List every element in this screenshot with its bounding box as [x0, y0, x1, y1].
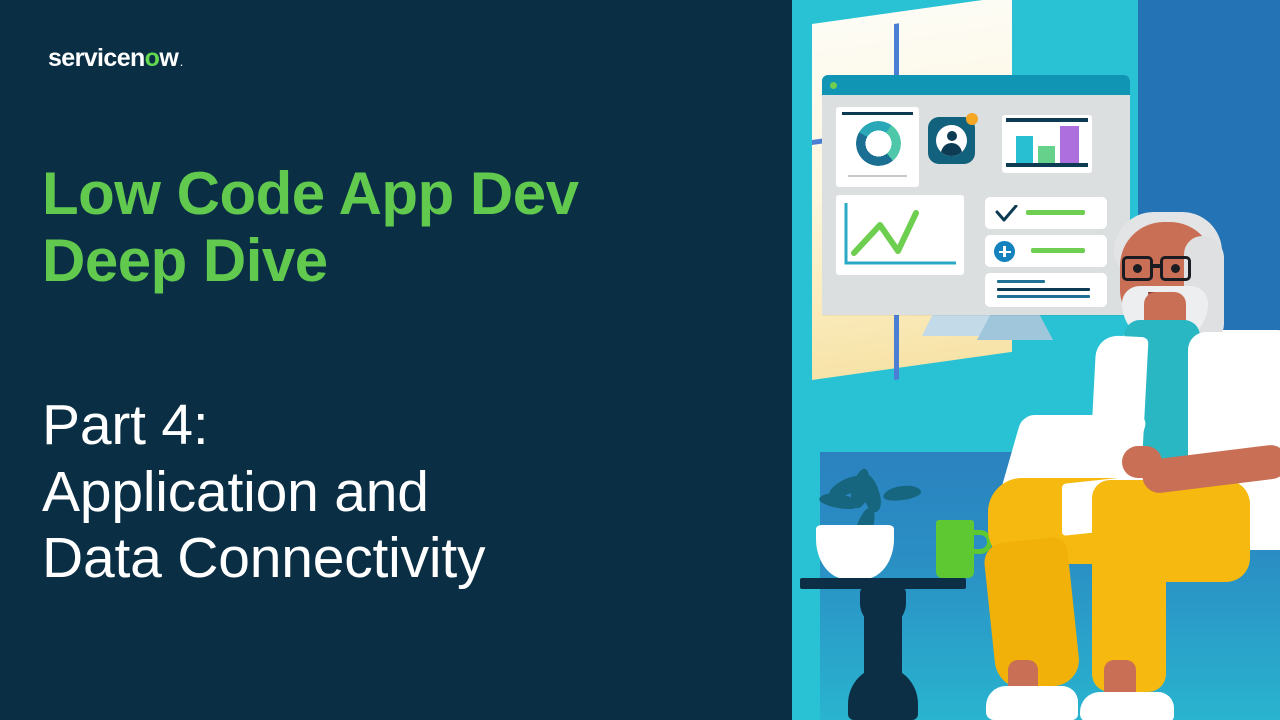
person-shoe-right: [1080, 692, 1174, 720]
placeholder-text-bar: [1031, 248, 1085, 253]
title-panel: servicenow. Low Code App Dev Deep Dive P…: [0, 0, 792, 720]
logo-text-part-a: servicen: [48, 46, 145, 71]
person-shoe-left: [986, 686, 1078, 720]
page-subtitle: Part 4: Application and Data Connectivit…: [42, 392, 772, 592]
coffee-mug: [936, 520, 974, 578]
illustration-panel: [792, 0, 1280, 720]
donut-chart-icon: [856, 121, 901, 166]
page-title: Low Code App Dev Deep Dive: [42, 160, 762, 294]
bar-chart-rule-bottom: [1006, 163, 1088, 167]
card-rule-bottom: [848, 175, 907, 177]
logo-text-accent-o: o: [145, 46, 160, 71]
glasses-bridge: [1153, 264, 1162, 268]
text-lines-card: [985, 273, 1107, 307]
placeholder-text-bar: [1026, 210, 1085, 215]
line-chart-widget: [836, 195, 964, 275]
text-line: [997, 280, 1045, 283]
bar-chart-rule-top: [1006, 118, 1088, 122]
checklist-item-card: [985, 197, 1107, 229]
card-rule-top: [842, 112, 913, 115]
person-eye-right: [1171, 264, 1180, 273]
text-line: [997, 295, 1090, 298]
avatar: [936, 125, 967, 156]
servicenow-logo: servicenow.: [48, 46, 182, 72]
logo-trademark-mark: .: [180, 59, 182, 68]
bar-chart-bar: [1060, 126, 1079, 163]
add-item-card: [985, 235, 1107, 267]
green-status-dot: [830, 82, 837, 89]
text-line: [997, 288, 1090, 291]
donut-chart-widget: [836, 107, 919, 187]
logo-text-part-b: w: [159, 46, 178, 71]
bar-chart-widget: [1002, 115, 1092, 173]
dashboard-title-bar: [822, 75, 1130, 95]
avatar-head-icon: [947, 131, 957, 141]
line-chart-icon: [836, 195, 964, 275]
plus-icon: [994, 241, 1015, 262]
avatar-body-icon: [941, 143, 962, 156]
bar-chart-bar: [1016, 136, 1033, 163]
side-table-stem: [864, 589, 902, 720]
person-eye-left: [1133, 264, 1142, 273]
dashboard-window: [822, 75, 1130, 315]
bar-chart-bar: [1038, 146, 1055, 163]
plus-icon-vertical: [1003, 246, 1006, 257]
orange-notification-dot: [966, 113, 978, 125]
user-avatar-badge: [928, 117, 975, 164]
slide-root: servicenow. Low Code App Dev Deep Dive P…: [0, 0, 1280, 720]
check-icon: [995, 205, 1019, 223]
person-hand: [1122, 446, 1162, 478]
